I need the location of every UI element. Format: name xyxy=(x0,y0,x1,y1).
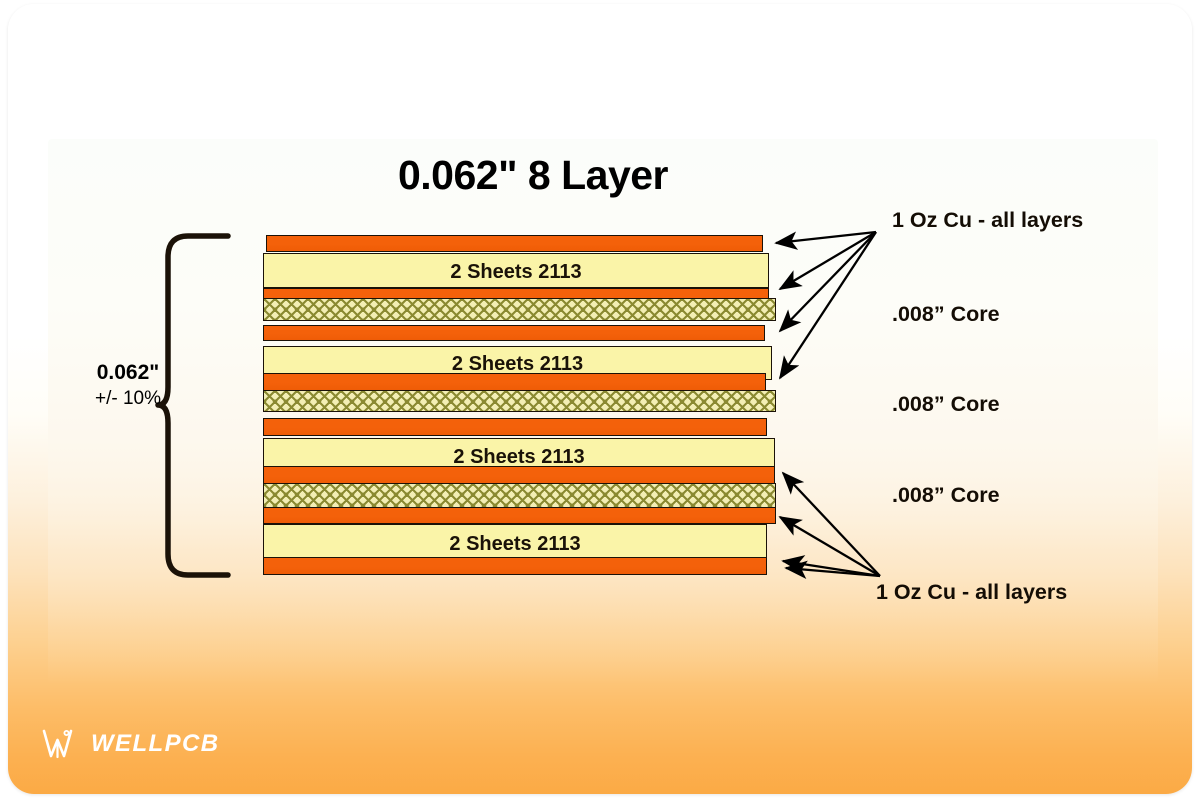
layer-prepreg-1: 2 Sheets 2113 xyxy=(263,253,769,288)
layer-prepreg-4: 2 Sheets 2113 xyxy=(263,524,767,561)
pcb-stackup-illustration: 0.062" 8 Layer xyxy=(0,0,1200,800)
illustration-card: 0.062" 8 Layer xyxy=(8,4,1192,794)
layer-copper-8 xyxy=(263,557,767,575)
callout-core-3: .008” Core xyxy=(892,483,1000,508)
wellpcb-wordmark: WELLPCB xyxy=(91,730,219,758)
layer-label: 2 Sheets 2113 xyxy=(264,534,766,554)
layer-copper-7 xyxy=(263,507,776,524)
layer-copper-4 xyxy=(263,373,766,391)
wellpcb-logo: WELLPCB xyxy=(40,727,219,761)
layer-label: 2 Sheets 2113 xyxy=(264,354,771,374)
layer-core-3 xyxy=(263,483,776,508)
layer-copper-5 xyxy=(263,418,767,436)
layer-label: 2 Sheets 2113 xyxy=(264,262,768,282)
layer-core-2 xyxy=(263,390,776,412)
layer-stack: 2 Sheets 21132 Sheets 21132 Sheets 21132… xyxy=(8,4,1192,794)
layer-copper-3 xyxy=(263,325,765,341)
layer-label: 2 Sheets 2113 xyxy=(264,447,774,467)
callout-core-1: .008” Core xyxy=(892,302,1000,327)
callout-copper-top: 1 Oz Cu - all layers xyxy=(892,208,1083,233)
callout-copper-bottom: 1 Oz Cu - all layers xyxy=(876,580,1067,605)
layer-core-1 xyxy=(263,298,776,321)
layer-copper-1 xyxy=(266,235,763,252)
wellpcb-w-mark xyxy=(40,727,82,761)
callout-core-2: .008” Core xyxy=(892,392,1000,417)
